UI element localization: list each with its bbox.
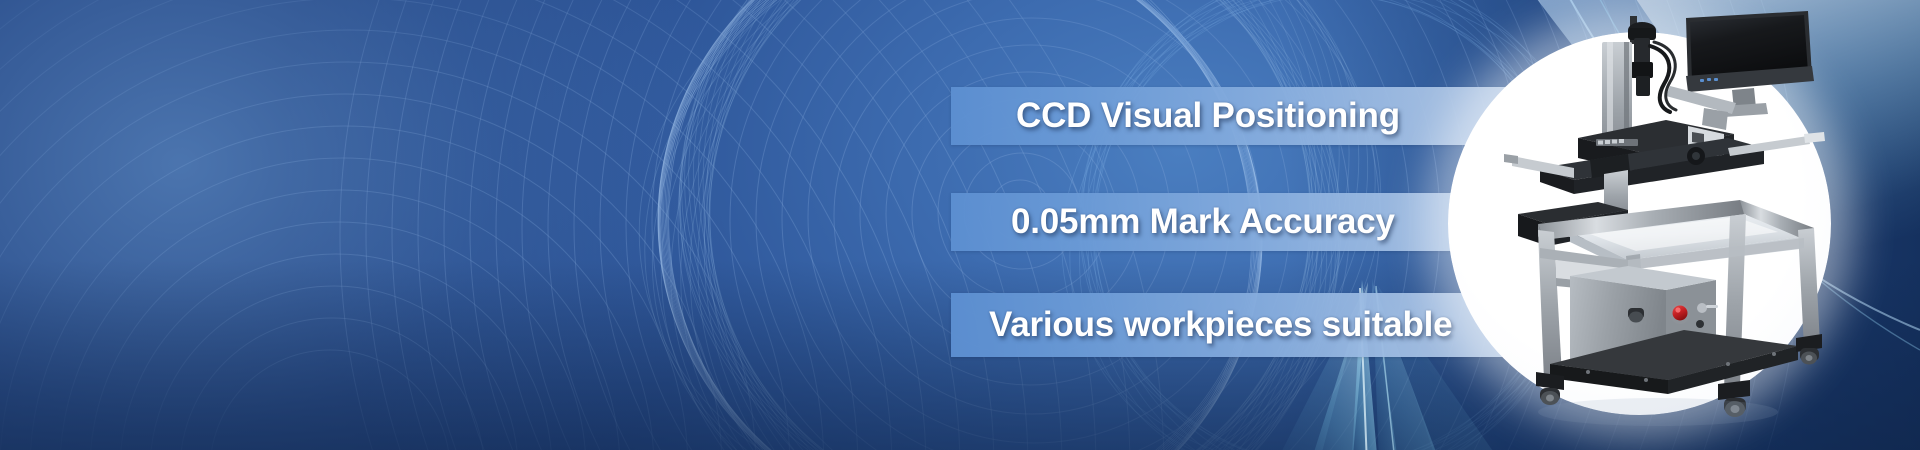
feature-bar-label: 0.05mm Mark Accuracy [1011,202,1395,242]
feature-bar-label: CCD Visual Positioning [1016,96,1400,136]
ccd-camera-head [1628,16,1676,112]
emergency-stop-button [1670,304,1690,324]
product-feature-banner: CCD Visual Positioning 0.05mm Mark Accur… [0,0,1920,450]
product-shadow [1538,398,1778,426]
feature-bar-label: Various workpieces suitable [989,305,1452,345]
laser-marking-machine-image [1478,8,1878,438]
